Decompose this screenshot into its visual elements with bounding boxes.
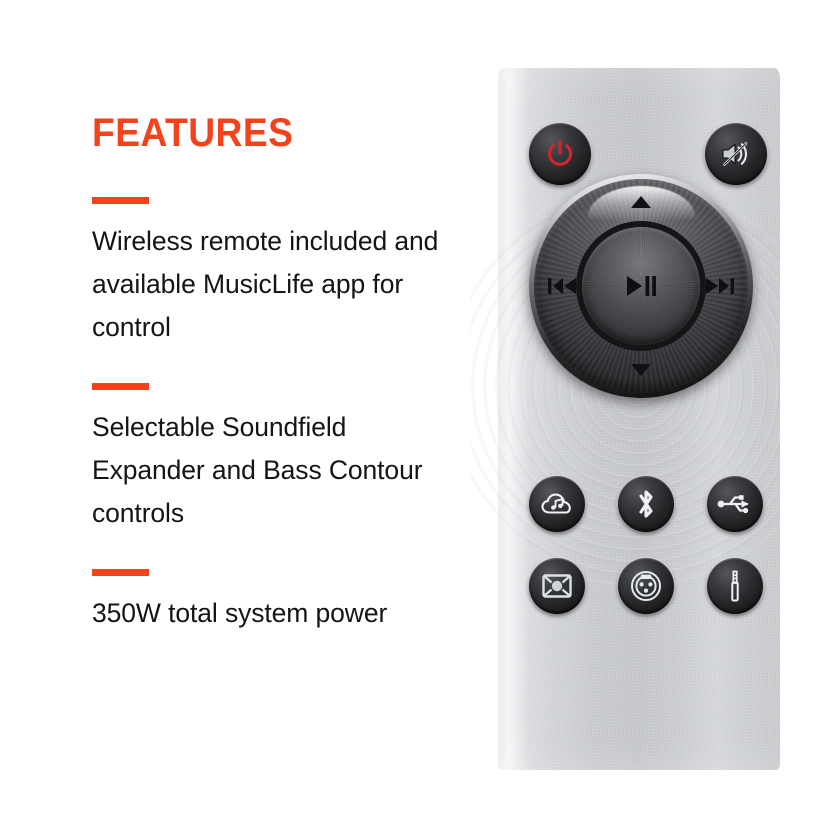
usb-button[interactable]	[707, 476, 763, 532]
page-title: FEATURES	[92, 112, 436, 154]
mute-icon	[719, 139, 753, 169]
bluetooth-icon	[634, 487, 658, 521]
line-in-button[interactable]	[529, 558, 585, 614]
feature-item-1: Wireless remote included and available M…	[92, 197, 462, 349]
previous-track-button[interactable]	[547, 276, 577, 296]
chevron-down-icon	[630, 363, 652, 377]
aux-jack-button[interactable]	[707, 558, 763, 614]
accent-divider	[92, 569, 149, 576]
navigate-down-button[interactable]	[630, 363, 652, 377]
feature-text-1: Wireless remote included and available M…	[92, 220, 452, 349]
feature-text-3: 350W total system power	[92, 592, 452, 635]
chevron-up-icon	[630, 195, 652, 209]
usb-icon	[717, 491, 753, 517]
accent-divider	[92, 197, 149, 204]
feature-text-2: Selectable Soundfield Expander and Bass …	[92, 406, 452, 535]
xlr-button[interactable]	[618, 558, 674, 614]
line-in-icon	[541, 572, 573, 600]
navigate-up-button[interactable]	[630, 195, 652, 209]
aux-jack-icon	[726, 568, 744, 604]
remote-body	[498, 68, 780, 770]
music-cloud-icon	[540, 490, 574, 518]
product-feature-card: FEATURES Wireless remote included and av…	[0, 0, 840, 840]
accent-divider	[92, 383, 149, 390]
navigation-wheel-ring[interactable]	[534, 179, 748, 393]
navigation-wheel[interactable]	[529, 174, 753, 398]
next-track-button[interactable]	[705, 276, 735, 296]
xlr-connector-icon	[629, 569, 663, 603]
feature-item-3: 350W total system power	[92, 569, 462, 635]
feature-item-2: Selectable Soundfield Expander and Bass …	[92, 383, 462, 535]
previous-track-icon	[547, 276, 577, 296]
features-panel: FEATURES Wireless remote included and av…	[92, 112, 462, 635]
bluetooth-button[interactable]	[618, 476, 674, 532]
next-track-icon	[705, 276, 735, 296]
play-pause-icon	[624, 275, 658, 297]
music-cloud-button[interactable]	[529, 476, 585, 532]
remote-product-image	[470, 0, 780, 840]
play-pause-button[interactable]	[582, 227, 700, 345]
power-icon	[545, 139, 575, 169]
